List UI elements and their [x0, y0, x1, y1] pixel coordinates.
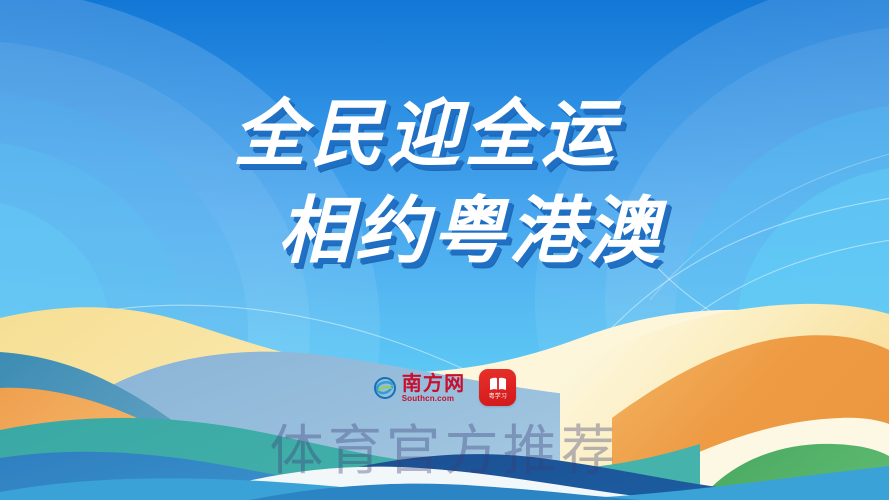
southcn-text-block: 南方网 Southcn.com [402, 373, 466, 403]
logo-row: 南方网 Southcn.com 粤学习 [0, 369, 889, 406]
yuexuexi-app-icon[interactable]: 粤学习 [479, 369, 516, 406]
southcn-logo[interactable]: 南方网 Southcn.com [373, 373, 466, 403]
yuexuexi-label: 粤学习 [489, 394, 507, 400]
southcn-name-cn: 南方网 [402, 373, 466, 393]
background-waves [0, 0, 889, 500]
open-book-icon [488, 376, 508, 393]
southcn-name-en: Southcn.com [402, 395, 454, 403]
swirl-circle-icon [373, 376, 397, 400]
poster-canvas: 全民迎全运 相约粤港澳 南方网 Southcn.com 粤学习 体育官方 [0, 0, 889, 500]
